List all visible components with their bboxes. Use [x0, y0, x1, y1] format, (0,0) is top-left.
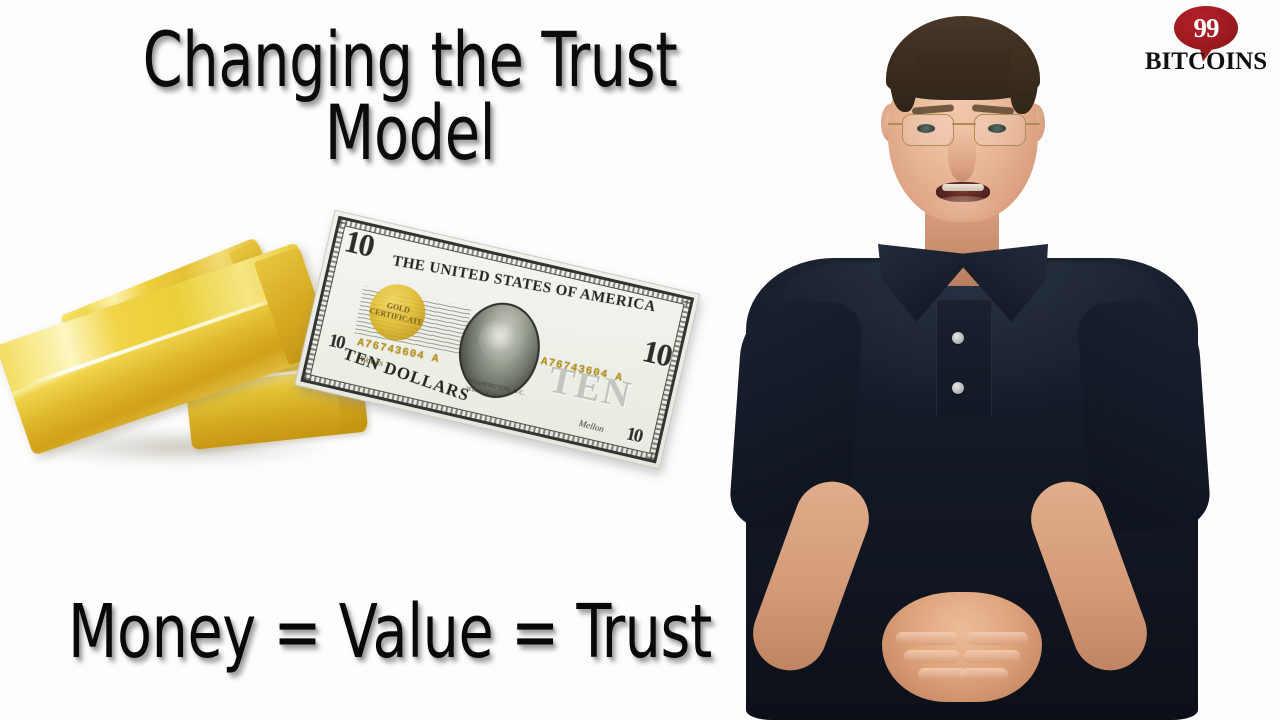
shirt-button-bottom [952, 382, 964, 394]
glasses-temple-left [888, 123, 902, 125]
finger [964, 650, 1020, 663]
logo-wordmark: BITCOINS [1136, 48, 1276, 76]
slide-canvas: Changing the Trust Model 10 10 10 [0, 0, 1280, 720]
logo-number: 99 [1174, 6, 1238, 50]
presenter-shirt-placket [936, 300, 992, 416]
slide-caption: Money = Value = Trust [63, 595, 717, 669]
presenter-chin [922, 196, 1004, 224]
shirt-button-top [952, 332, 964, 344]
finger [966, 632, 1028, 645]
glasses-lens-right [974, 114, 1026, 146]
finger [896, 632, 958, 645]
brand-logo: 99 BITCOINS [1136, 4, 1276, 78]
glasses-temple-right [1026, 123, 1040, 125]
presenter-teeth [942, 184, 984, 191]
page-title: Changing the Trust Model [91, 24, 729, 170]
glasses-bridge [952, 123, 976, 125]
presenter-hair [886, 16, 1040, 100]
presenter-video [700, 0, 1280, 720]
presenter-hands-clasped [882, 592, 1042, 702]
finger [960, 668, 1008, 681]
finger [918, 668, 966, 681]
finger [904, 650, 960, 663]
glasses-lens-left [902, 114, 954, 146]
presenter-nose [948, 130, 976, 182]
